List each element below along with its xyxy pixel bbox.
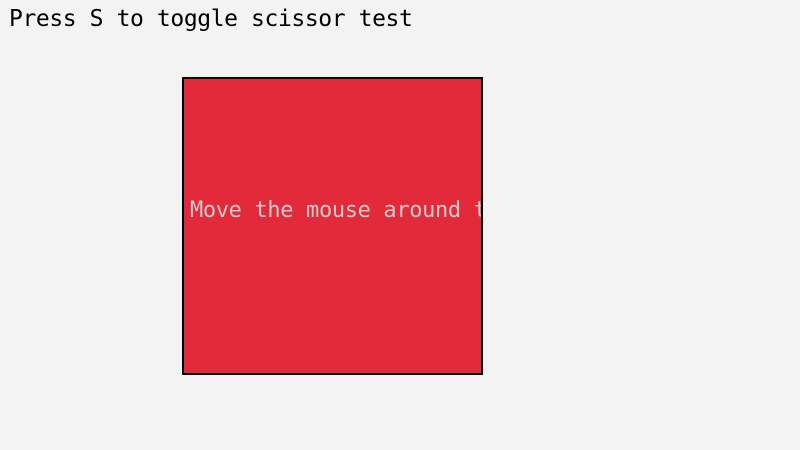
hud-instruction-text: Press S to toggle scissor test bbox=[9, 5, 412, 33]
scissor-clipped-message: Move the mouse around to resize the scis… bbox=[190, 198, 481, 224]
scissor-clip-area: Move the mouse around to resize the scis… bbox=[184, 79, 481, 373]
scissor-test-rectangle[interactable]: Move the mouse around to resize the scis… bbox=[182, 77, 483, 375]
app-root: Press S to toggle scissor test Move the … bbox=[0, 0, 800, 450]
